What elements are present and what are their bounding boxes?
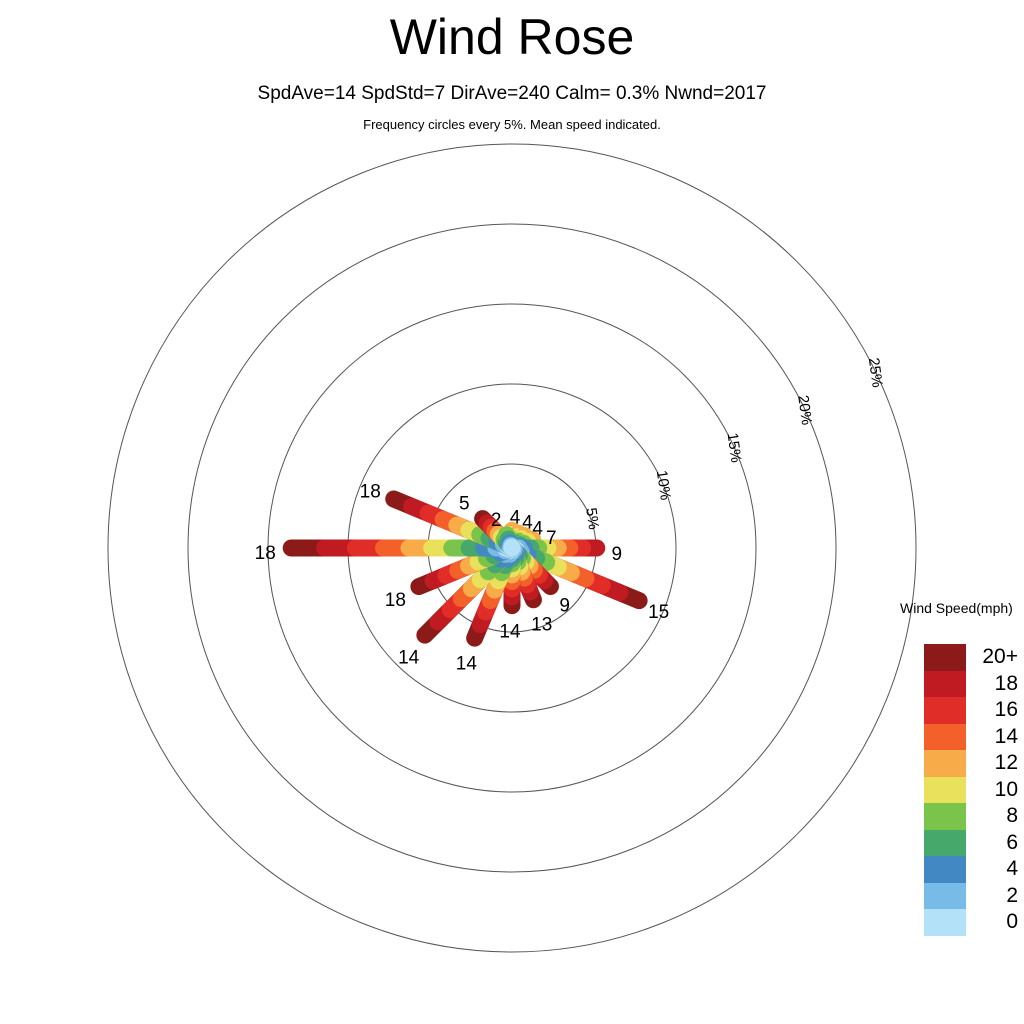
legend-label: 0 (966, 909, 1022, 936)
petal-mean-speed-label: 13 (531, 614, 552, 635)
ring-percent-label: 5% (582, 507, 602, 531)
ring-percent-label: 20% (794, 394, 815, 426)
legend-label: 14 (966, 724, 1022, 751)
petal-mean-speed-label: 7 (546, 528, 557, 549)
legend-color-swatch (924, 883, 966, 910)
ring-percent-label: 25% (865, 357, 886, 389)
petal-mean-speed-label: 9 (612, 544, 623, 565)
legend-label: 6 (966, 830, 1022, 857)
petal-mean-speed-label: 9 (559, 596, 570, 617)
petal-mean-speed-label: 2 (491, 510, 502, 531)
petal-mean-speed-label: 18 (360, 482, 381, 503)
legend-row: 16 (924, 697, 1022, 724)
legend-color-swatch (924, 724, 966, 751)
wind-rose-page: Wind Rose SpdAve=14 SpdStd=7 DirAve=240 … (0, 0, 1024, 1024)
legend-color-swatch (924, 671, 966, 698)
wind-rose-plot: 5%10%15%20%25% 444791591314141418181852 (0, 0, 1024, 1024)
legend-row: 20+ (924, 644, 1022, 671)
legend-row: 14 (924, 724, 1022, 751)
legend-row: 12 (924, 750, 1022, 777)
ring-percent-label: 15% (723, 432, 744, 464)
petal-mean-speed-label: 14 (499, 622, 521, 643)
legend-label: 10 (966, 777, 1022, 804)
legend-row: 2 (924, 883, 1022, 910)
ring-labels: 5%10%15%20%25% (582, 357, 886, 531)
legend-color-swatch (924, 644, 966, 671)
legend-color-swatch (924, 909, 966, 936)
legend-label: 2 (966, 883, 1022, 910)
petal-mean-speed-label: 4 (510, 507, 521, 528)
legend-color-swatch (924, 856, 966, 883)
legend-label: 8 (966, 803, 1022, 830)
legend-row: 8 (924, 803, 1022, 830)
legend-row: 18 (924, 671, 1022, 698)
petal-mean-speed-label: 14 (456, 654, 478, 675)
legend-label: 4 (966, 856, 1022, 883)
legend-label: 18 (966, 671, 1022, 698)
legend-row: 4 (924, 856, 1022, 883)
petal-mean-speed-label: 14 (398, 647, 420, 668)
legend-rows: 20+181614121086420 (924, 644, 1022, 936)
legend-color-swatch (924, 830, 966, 857)
legend-color-swatch (924, 777, 966, 804)
legend-row: 6 (924, 830, 1022, 857)
wind-petal (506, 535, 512, 548)
petal-mean-speed-label: 5 (459, 493, 470, 514)
legend-label: 20+ (966, 644, 1022, 671)
ring-percent-label: 10% (653, 469, 674, 501)
legend-color-swatch (924, 803, 966, 830)
petal-mean-speed-label: 18 (385, 590, 406, 611)
legend-label: 12 (966, 750, 1022, 777)
legend-color-swatch (924, 697, 966, 724)
legend-color-swatch (924, 750, 966, 777)
legend-row: 10 (924, 777, 1022, 804)
legend: Wind Speed(mph) 20+181614121086420 (900, 600, 1024, 646)
petal-mean-speed-label: 18 (255, 543, 276, 564)
petal-mean-speed-label: 4 (532, 518, 543, 539)
legend-label: 16 (966, 697, 1022, 724)
petal-mean-speed-label: 15 (648, 602, 669, 623)
legend-row: 0 (924, 909, 1022, 936)
legend-title: Wind Speed(mph) (900, 600, 1024, 616)
